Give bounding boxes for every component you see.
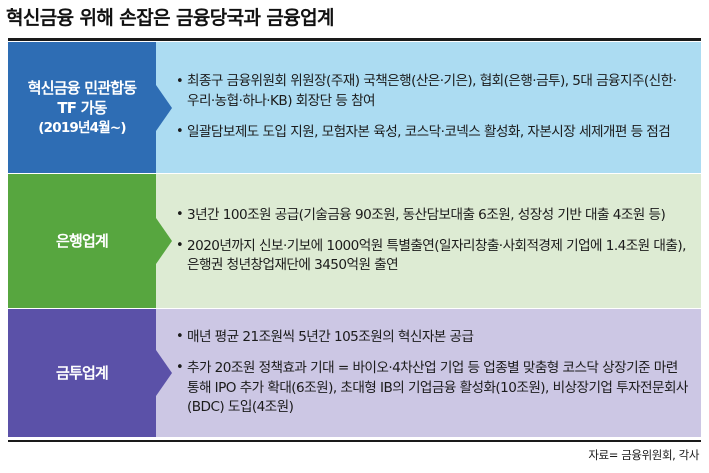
footer-divider xyxy=(8,440,701,442)
row-content-tf: 최종구 금융위원회 위원장(주재) 국책은행(산은·기은), 협회(은행·금투)… xyxy=(156,42,701,173)
table-row: 금투업계 매년 평균 21조원씩 5년간 105조원의 혁신자본 공급 추가 2… xyxy=(8,308,701,437)
source-text: 자료= 금융위원회, 각사 xyxy=(588,447,699,463)
comparison-table: 혁신금융 민관합동 TF 가동 (2019년4월~) 최종구 금융위원회 위원장… xyxy=(8,42,701,437)
page-title-text: 혁신금융 위해 손잡은 금융당국과 금융업계 xyxy=(6,9,334,28)
infographic-root: 혁신금융 위해 손잡은 금융당국과 금융업계 혁신금융 민관합동 TF 가동 (… xyxy=(0,0,709,473)
table-row: 은행업계 3년간 100조원 공급(기술금융 90조원, 동산담보대출 6조원,… xyxy=(8,173,701,308)
row-label-line1: 은행업계 xyxy=(56,231,108,251)
row-label-line2: TF 가동 xyxy=(57,98,106,118)
row-label-sub: (2019년4월~) xyxy=(38,119,125,137)
row-label-line1: 혁신금융 민관합동 xyxy=(28,78,136,98)
row-content-banking: 3년간 100조원 공급(기술금융 90조원, 동산담보대출 6조원, 성장성 … xyxy=(156,174,701,308)
row-label-tf: 혁신금융 민관합동 TF 가동 (2019년4월~) xyxy=(8,42,156,173)
source-note: 자료= 금융위원회, 각사 xyxy=(8,443,701,467)
row-label-line1: 금투업계 xyxy=(56,363,108,383)
title-divider xyxy=(8,38,701,41)
page-title: 혁신금융 위해 손잡은 금융당국과 금융업계 xyxy=(0,0,709,36)
row-content-investment: 매년 평균 21조원씩 5년간 105조원의 혁신자본 공급 추가 20조원 정… xyxy=(156,309,701,437)
bullet-item: 추가 20조원 정책효과 기대 = 바이오·4차산업 기업 등 업종별 맞춤형 … xyxy=(176,359,689,419)
bullet-item: 최종구 금융위원회 위원장(주재) 국책은행(산은·기은), 협회(은행·금투)… xyxy=(176,72,689,112)
row-label-banking: 은행업계 xyxy=(8,174,156,308)
table-row: 혁신금융 민관합동 TF 가동 (2019년4월~) 최종구 금융위원회 위원장… xyxy=(8,42,701,173)
bullet-item: 매년 평균 21조원씩 5년간 105조원의 혁신자본 공급 xyxy=(176,328,689,348)
bullet-item: 2020년까지 신보·기보에 1000억원 특별출연(일자리창출·사회적경제 기… xyxy=(176,237,689,277)
bullet-item: 일괄담보제도 도입 지원, 모험자본 육성, 코스닥·코넥스 활성화, 자본시장… xyxy=(176,123,689,143)
bullet-item: 3년간 100조원 공급(기술금융 90조원, 동산담보대출 6조원, 성장성 … xyxy=(176,206,689,226)
row-label-investment: 금투업계 xyxy=(8,309,156,437)
